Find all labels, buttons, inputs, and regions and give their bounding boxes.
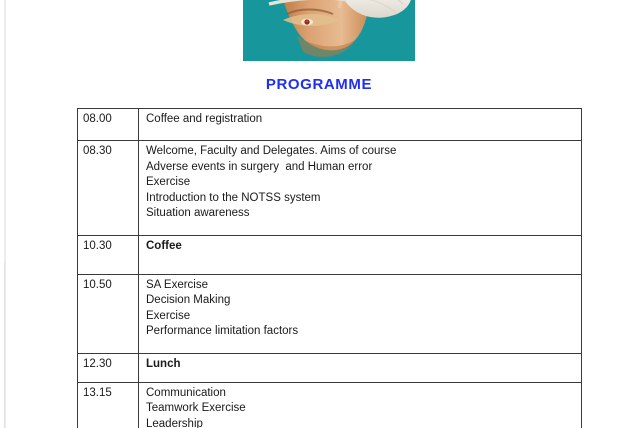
table-row: 10.50 SA Exercise Decision Making Exerci… [78,274,582,354]
document-page: PROGRAMME 08.00 Coffee and registration … [0,0,638,428]
session-line: Teamwork Exercise [146,401,581,416]
session-line: SA Exercise [146,278,581,293]
session-line: Lunch [146,357,581,372]
table-row: 08.30 Welcome, Faculty and Delegates. Ai… [78,141,582,236]
session-line: Coffee [146,239,581,254]
session-line: Decision Making [146,293,581,308]
session-line: Exercise [146,309,581,324]
session-line: Performance limitation factors [146,324,581,339]
table-row-break: 10.30 Coffee [78,236,582,274]
row-time: 10.50 [78,274,139,354]
session-line: Coffee and registration [146,112,581,127]
surgeon-with-surgical-mask-photo [243,0,415,61]
page-left-edge-rule-lower [4,262,5,428]
row-session: SA Exercise Decision Making Exercise Per… [139,274,582,354]
session-line: Exercise [146,175,581,190]
table-row: 08.00 Coffee and registration [78,109,582,141]
table-row: 13.15 Communication Teamwork Exercise Le… [78,382,582,428]
session-line: Welcome, Faculty and Delegates. Aims of … [146,144,581,159]
session-line: Introduction to the NOTSS system [146,191,581,206]
programme-table-body: 08.00 Coffee and registration 08.30 Welc… [78,109,582,428]
row-session: Coffee and registration [139,109,582,141]
row-time: 12.30 [78,354,139,382]
row-time: 08.00 [78,109,139,141]
session-line: Leadership [146,417,581,428]
session-line: Situation awareness [146,206,581,221]
session-line: Adverse events in surgery and Human erro… [146,160,581,175]
row-session: Lunch [139,354,582,382]
row-time: 10.30 [78,236,139,274]
row-session: Coffee [139,236,582,274]
row-session: Welcome, Faculty and Delegates. Aims of … [139,141,582,236]
row-time: 08.30 [78,141,139,236]
table-row-break: 12.30 Lunch [78,354,582,382]
page-title: PROGRAMME [0,76,638,93]
row-time: 13.15 [78,382,139,428]
programme-table: 08.00 Coffee and registration 08.30 Welc… [77,108,582,428]
session-line: Communication [146,386,581,401]
row-session: Communication Teamwork Exercise Leadersh… [139,382,582,428]
